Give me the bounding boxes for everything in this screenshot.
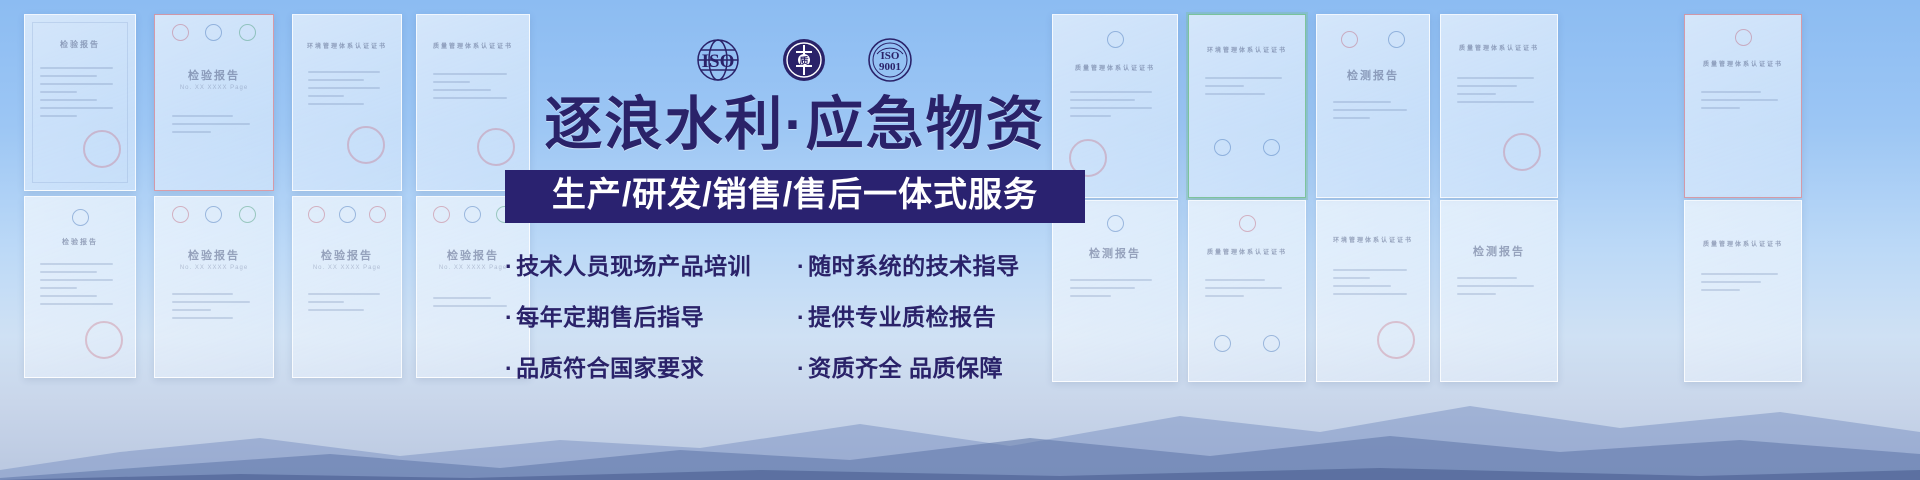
bullet-row: · 品质符合国家要求 · 资质齐全 品质保障 <box>505 349 1085 383</box>
cqc-mini-icon <box>1239 215 1256 232</box>
certificate-text-lines <box>40 263 119 311</box>
iso-mini-icon <box>1388 31 1405 48</box>
certificate-title: 检验报告 <box>155 247 273 263</box>
certificate-mini-logos <box>34 209 126 226</box>
certificate-mini-logos <box>1694 29 1791 46</box>
certificate-title: 质量管理体系认证证书 <box>1053 63 1177 72</box>
bullet-marker-icon: · <box>505 253 513 280</box>
certificate-mini-logos <box>1063 31 1167 48</box>
bullet-item: · 提供专业质检报告 <box>797 298 996 332</box>
bullet-marker-icon: · <box>505 355 513 382</box>
iso-mini-icon <box>464 206 481 223</box>
certificate-mini-logos <box>164 24 263 41</box>
certificate-text-lines <box>1333 269 1414 301</box>
cqc-mini-icon <box>172 206 189 223</box>
quality-badge: 质 <box>776 32 832 88</box>
certificate-thumb: 检验报告 <box>24 14 136 191</box>
certificate-subcaption: No. XX XXXX Page <box>155 265 273 271</box>
iso-badge: ISO <box>690 32 746 88</box>
ccc-mini-icon <box>369 206 386 223</box>
certificate-title: 质量管理体系认证证书 <box>1441 43 1557 52</box>
certificate-text-lines <box>172 115 257 139</box>
bullet-marker-icon: · <box>797 253 805 280</box>
certificate-subcaption: No. XX XXXX Page <box>155 85 273 91</box>
env-mini-icon <box>239 206 256 223</box>
certificate-thumb: 检测报告 <box>1316 14 1430 198</box>
subtitle-bar: 生产/研发/销售/售后一体式服务 <box>505 170 1085 223</box>
bullet-marker-icon: · <box>505 304 513 331</box>
bullet-row: · 每年定期售后指导 · 提供专业质检报告 <box>505 298 1085 332</box>
env-mini-icon <box>239 24 256 41</box>
certificate-text-lines <box>1457 77 1541 109</box>
certificate-text-lines <box>1701 91 1785 115</box>
certificate-subcaption: No. XX XXXX Page <box>293 265 401 271</box>
bullet-label: 技术人员现场产品培训 <box>516 247 751 281</box>
certificate-text-lines <box>433 73 514 105</box>
feature-bullet-list: · 技术人员现场产品培训 · 随时系统的技术指导 · 每年定期售后指导 · 提供… <box>505 247 1085 383</box>
certificate-title: 环境管理体系认证证书 <box>1189 45 1305 54</box>
certification-badges: ISO 质 ISO 9001 <box>690 32 918 88</box>
certificate-title: 检验报告 <box>293 247 401 263</box>
bullet-item: · 技术人员现场产品培训 <box>505 247 797 281</box>
cqc-mini-icon <box>1735 29 1752 46</box>
certificate-text-lines <box>1457 277 1541 301</box>
cqc-mini-icon <box>172 24 189 41</box>
bullet-label: 随时系统的技术指导 <box>808 247 1020 281</box>
certificate-text-lines <box>1205 77 1289 101</box>
certificate-title: 检验报告 <box>25 237 135 247</box>
certificate-text-lines <box>1205 279 1289 303</box>
bullet-label: 提供专业质检报告 <box>808 298 996 332</box>
bullet-marker-icon: · <box>797 304 805 331</box>
certificate-mini-logos <box>1198 139 1295 156</box>
page-title: 逐浪水利·应急物资 <box>505 96 1085 154</box>
certificate-thumb: 检验报告 No. XX XXXX Page <box>154 14 274 191</box>
cqc-mini-icon <box>308 206 325 223</box>
certificate-mini-logos <box>1198 215 1295 232</box>
iso-mini-icon <box>205 24 222 41</box>
bullet-label: 每年定期售后指导 <box>516 298 704 332</box>
bullet-row: · 技术人员现场产品培训 · 随时系统的技术指导 <box>505 247 1085 281</box>
iso-mini-icon <box>72 209 89 226</box>
iso-mini-icon <box>205 206 222 223</box>
certificate-title: 质量管理体系认证证书 <box>1685 59 1801 68</box>
certificate-thumb: 质量管理体系认证证书 <box>1684 14 1802 198</box>
certificate-title: 检验报告 <box>25 39 135 50</box>
certificate-thumb: 环境管理体系认证证书 <box>1188 14 1306 198</box>
certificate-title: 检测报告 <box>1441 243 1557 259</box>
certificate-text-lines <box>1333 101 1414 125</box>
cqc-mini-icon <box>433 206 450 223</box>
certificate-text-lines <box>308 71 386 111</box>
certificate-mini-logos <box>302 206 393 223</box>
certificate-thumb: 质量管理体系认证证书 <box>1440 14 1558 198</box>
bullet-label: 品质符合国家要求 <box>516 349 704 383</box>
quality-badge-text: 质 <box>799 55 808 66</box>
bullet-item: · 品质符合国家要求 <box>505 349 797 383</box>
certificate-thumb: 环境管理体系认证证书 <box>292 14 402 191</box>
certificate-seal <box>1503 133 1541 171</box>
bullet-item: · 随时系统的技术指导 <box>797 247 1020 281</box>
banner-content: 逐浪水利·应急物资 生产/研发/销售/售后一体式服务 · 技术人员现场产品培训 … <box>505 96 1085 400</box>
certificate-mini-logos <box>164 206 263 223</box>
iaf-mini-icon <box>1263 139 1280 156</box>
certificate-title: 质量管理体系认证证书 <box>417 41 529 50</box>
iso-mini-icon <box>1107 215 1124 232</box>
cqc-mini-icon <box>1341 31 1358 48</box>
certificate-text-lines <box>40 67 119 123</box>
bullet-marker-icon: · <box>797 355 805 382</box>
bullet-item: · 每年定期售后指导 <box>505 298 797 332</box>
promo-banner: 检验报告 检验报告 No. XX XXXX Page 环境管理体系认证证书 <box>0 0 1920 480</box>
certificate-title: 环境管理体系认证证书 <box>293 41 401 50</box>
certificate-seal <box>347 126 385 164</box>
iso9001-badge-text-bottom: 9001 <box>879 61 901 73</box>
bullet-label: 资质齐全 品质保障 <box>808 349 1003 383</box>
certificate-text-lines <box>1701 273 1785 297</box>
iso-badge-text: ISO <box>702 51 735 72</box>
certificate-title: 检测报告 <box>1317 67 1429 83</box>
certificate-seal <box>83 130 121 168</box>
iso9001-badge: ISO 9001 <box>862 32 918 88</box>
certificate-title: 检验报告 <box>155 67 273 83</box>
certificate-text-lines <box>308 293 386 317</box>
iso-mini-icon <box>339 206 356 223</box>
certificate-title: 环境管理体系认证证书 <box>1317 235 1429 244</box>
iso-mini-icon <box>1107 31 1124 48</box>
bullet-item: · 资质齐全 品质保障 <box>797 349 1003 383</box>
iso-mini-icon <box>1214 139 1231 156</box>
certificate-title: 质量管理体系认证证书 <box>1189 247 1305 256</box>
certificate-mini-logos <box>1326 31 1420 48</box>
certificate-text-lines <box>433 297 514 313</box>
certificate-title: 质量管理体系认证证书 <box>1685 239 1801 248</box>
